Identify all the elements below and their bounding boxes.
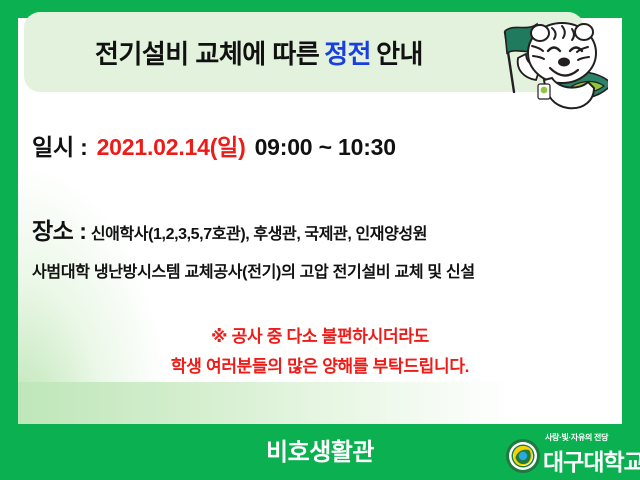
place-line: 장소 : 신애학사(1,2,3,5,7호관), 후생관, 국제관, 인재양성원	[32, 212, 427, 246]
time-value: 09:00 ~ 10:30	[255, 134, 396, 160]
date-value: 2021.02.14(일)	[97, 134, 246, 160]
place-value: 신애학사(1,2,3,5,7호관), 후생관, 국제관, 인재양성원	[91, 226, 427, 243]
logo-tagline: 사랑·빛·자유의 전당	[545, 432, 608, 443]
notice-line-1: ※ 공사 중 다소 불편하시더라도	[18, 322, 622, 352]
title-highlight: 정전	[324, 34, 371, 71]
notice-poster: 전기설비 교체에 따른 정전 안내	[0, 0, 640, 480]
university-logo: 사랑·빛·자유의 전당 대구대학교	[505, 432, 635, 476]
logo-university-name: 대구대학교	[543, 443, 640, 477]
panel-glow-left	[18, 168, 168, 424]
place-label: 장소 :	[32, 218, 86, 244]
panel-glow-bottom	[18, 382, 622, 424]
detail-line: 사범대학 냉난방시스템 교체공사(전기)의 고압 전기설비 교체 및 신설	[32, 258, 475, 282]
tiger-mascot-icon	[488, 6, 608, 118]
date-line: 일시 :2021.02.14(일)09:00 ~ 10:30	[32, 128, 396, 162]
date-label: 일시 :	[32, 134, 88, 160]
daegu-university-emblem-icon	[505, 438, 541, 474]
page-title: 전기설비 교체에 따른 정전 안내	[24, 12, 494, 92]
notice-text: ※ 공사 중 다소 불편하시더라도 학생 여러분들의 많은 양해를 부탁드립니다…	[18, 322, 622, 382]
title-before: 전기설비 교체에 따른	[95, 34, 319, 71]
title-after: 안내	[376, 34, 423, 71]
notice-line-2: 학생 여러분들의 많은 양해를 부탁드립니다.	[18, 352, 622, 382]
